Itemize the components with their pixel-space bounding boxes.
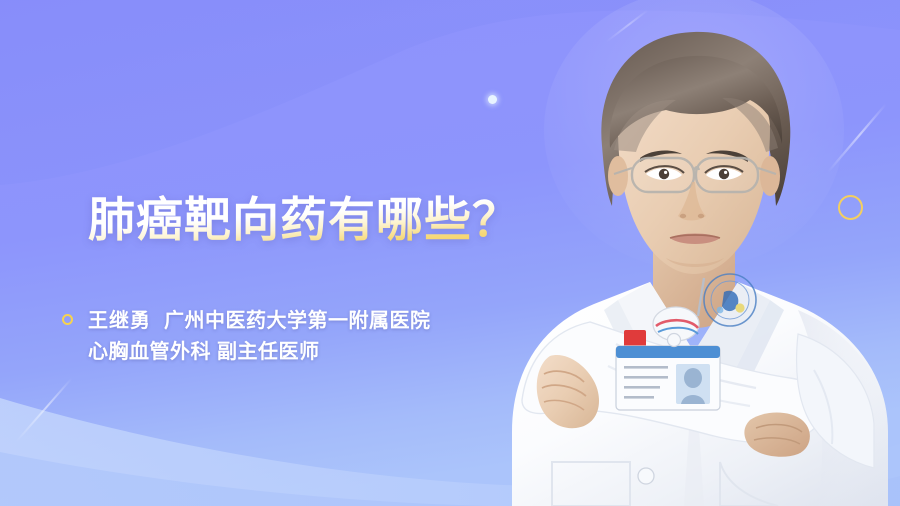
doctor-portrait (498, 0, 900, 506)
doctor-name: 王继勇 (88, 310, 151, 332)
doctor-department-title: 心胸血管外科 副主任医师 (88, 337, 558, 368)
hospital-name: 广州中医药大学第一附属医院 (164, 310, 431, 332)
byline: 王继勇广州中医药大学第一附属医院 心胸血管外科 副主任医师 (88, 306, 558, 368)
coat-button-lower (638, 468, 654, 484)
sparkle-dot-icon (488, 95, 497, 104)
banner-card: 肺癌靶向药有哪些？ 王继勇广州中医药大学第一附属医院 心胸血管外科 副主任医师 (0, 0, 900, 506)
byline-line-primary: 王继勇广州中医药大学第一附属医院 (88, 306, 558, 337)
ring-bullet-icon (62, 314, 73, 325)
page-title: 肺癌靶向药有哪些？ (88, 193, 520, 247)
coat-button-upper (668, 334, 681, 347)
